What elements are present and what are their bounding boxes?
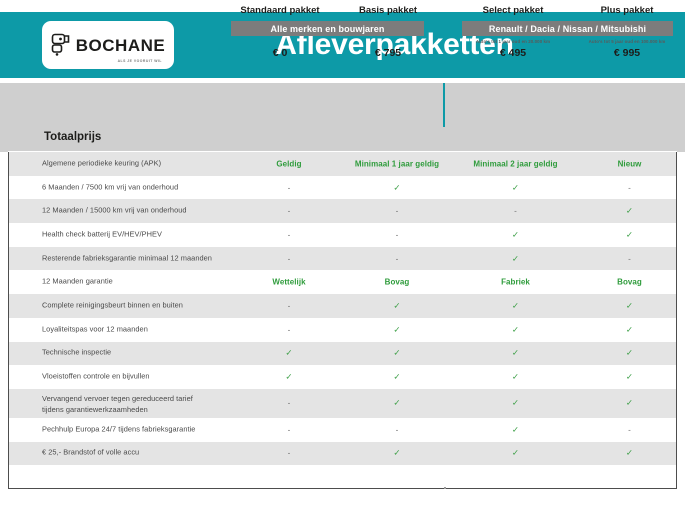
table-row: Algemene periodieke keuring (APK)GeldigM… — [9, 152, 676, 176]
table-row: 6 Maanden / 7500 km vrij van onderhoud-✓… — [9, 176, 676, 200]
cell-mark: ✓ — [557, 229, 685, 240]
cell-text: Nieuw — [557, 159, 685, 168]
row-label: Algemene periodieke keuring (APK) — [42, 158, 161, 169]
row-label: € 25,- Brandstof of volle accu — [42, 448, 139, 459]
package-price-plus: € 995 — [557, 47, 685, 59]
cell-dash: - — [557, 183, 685, 192]
cell-mark: ✓ — [557, 206, 685, 217]
row-label: Health check batterij EV/HEV/PHEV — [42, 230, 162, 241]
cell-mark: ✓ — [557, 300, 685, 311]
row-label: 6 Maanden / 7500 km vrij van onderhoud — [42, 182, 178, 193]
total-price-label: Totaalprijs — [44, 131, 101, 143]
logo: BOCHANE ALS JE VOORUIT WIL — [42, 21, 174, 69]
group-band-alle-merken: Alle merken en bouwjaren — [231, 21, 424, 36]
row-label: 12 Maanden / 15000 km vrij van onderhoud — [42, 206, 187, 217]
package-title-basis: Basis pakket — [318, 5, 458, 16]
logo-wordmark: BOCHANE — [76, 37, 165, 54]
cell-mark: ✓ — [557, 448, 685, 459]
package-note-plus: Auto's tot 5 jaar oud en 100.000 km — [557, 39, 685, 44]
table-row: Vervangend vervoer tegen gereduceerd tar… — [9, 389, 676, 418]
table-row: Pechhulp Europa 24/7 tijdens fabrieksgar… — [9, 418, 676, 442]
table-row: Loyaliteitspas voor 12 maanden-✓✓✓ — [9, 318, 676, 342]
row-label: Technische inspectie — [42, 348, 111, 359]
row-label: Vloeistoffen controle en bijvullen — [42, 372, 150, 383]
cell-dash: - — [557, 425, 685, 434]
total-price-row: Totaalprijs — [0, 127, 685, 152]
table-row: Technische inspectie✓✓✓✓ — [9, 342, 676, 366]
table-row: Complete reinigingsbeurt binnen en buite… — [9, 294, 676, 318]
row-label: Resterende fabrieksgarantie minimaal 12 … — [42, 253, 212, 264]
row-label: Vervangend vervoer tegen gereduceerd tar… — [42, 394, 193, 415]
table-row: 12 Maanden garantieWettelijkBovagFabriek… — [9, 270, 676, 294]
table-row: Resterende fabrieksgarantie minimaal 12 … — [9, 247, 676, 271]
bochane-glyph-icon — [51, 33, 71, 57]
row-label: Complete reinigingsbeurt binnen en buite… — [42, 301, 183, 312]
cell-mark: ✓ — [557, 324, 685, 335]
table-row: € 25,- Brandstof of volle accu-✓✓✓ — [9, 442, 676, 466]
package-title-plus: Plus pakket — [557, 5, 685, 16]
cell-mark: ✓ — [557, 398, 685, 409]
row-label: Loyaliteitspas voor 12 maanden — [42, 324, 148, 335]
table-footer-spacer — [9, 465, 676, 487]
cell-text: Bovag — [557, 278, 685, 287]
logo-tagline: ALS JE VOORUIT WIL — [118, 59, 162, 63]
row-label: Pechhulp Europa 24/7 tijdens fabrieksgar… — [42, 424, 195, 435]
row-label: 12 Maanden garantie — [42, 277, 113, 288]
package-price-basis: € 795 — [318, 47, 458, 59]
cell-dash: - — [557, 254, 685, 263]
table-row: 12 Maanden / 15000 km vrij van onderhoud… — [9, 199, 676, 223]
table-row: Health check batterij EV/HEV/PHEV--✓✓ — [9, 223, 676, 247]
cell-mark: ✓ — [557, 348, 685, 359]
cell-mark: ✓ — [557, 372, 685, 383]
table-row: Vloeistoffen controle en bijvullen✓✓✓✓ — [9, 365, 676, 389]
group-band-renault-dacia-nissan-mitsubishi: Renault / Dacia / Nissan / Mitsubishi — [462, 21, 673, 36]
comparison-table: Algemene periodieke keuring (APK)GeldigM… — [8, 152, 677, 489]
